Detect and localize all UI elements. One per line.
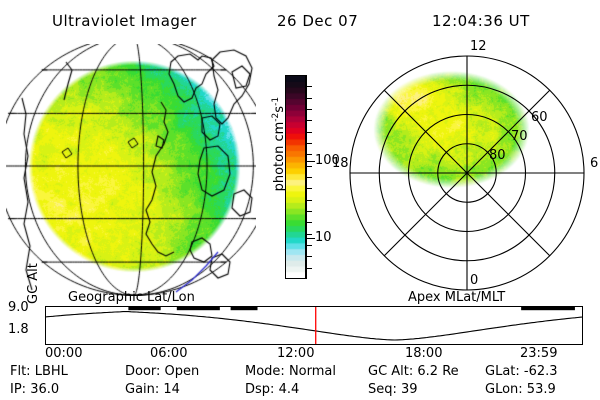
instrument-title: Ultraviolet Imager — [52, 12, 197, 30]
polar-mlt-label-0: 0 — [470, 274, 478, 287]
status-key: GC Alt: — [368, 364, 417, 379]
polar-mlt-label-18: 18 — [332, 157, 349, 170]
orbit-x-tick-1: 06:00 — [150, 346, 187, 361]
orbit-altitude-trace — [45, 306, 583, 345]
status-value: 39 — [401, 382, 418, 397]
colorbar-tick-label-10: 10 — [315, 231, 332, 244]
colorbar-minor-tick — [306, 234, 312, 235]
status-key: Dsp: — [245, 382, 279, 397]
status-value: 36.0 — [30, 382, 59, 397]
orbit-data-segment — [177, 307, 220, 310]
orbit-y-tick-low: 1.8 — [8, 322, 29, 337]
orbit-x-tick-0: 00:00 — [45, 346, 82, 361]
colorbar-minor-tick — [306, 143, 312, 144]
status-value: 6.2 Re — [417, 364, 458, 379]
colorbar-group: photon cm-2s-1 10010 — [258, 44, 342, 296]
colorbar-title-exp1: -2 — [271, 113, 281, 122]
polar-grid-overlay — [340, 40, 596, 296]
orbit-x-tick-2: 12:00 — [277, 346, 314, 361]
orbit-data-segment — [231, 307, 258, 310]
orbit-altitude-curve — [45, 312, 583, 341]
colorbar-minor-tick — [306, 166, 312, 167]
status-value: 53.9 — [527, 382, 556, 397]
colorbar-minor-tick — [306, 109, 312, 110]
status-value: -62.3 — [524, 364, 558, 379]
polar-mlat-label-80: 80 — [489, 149, 506, 162]
colorbar-minor-tick — [306, 200, 312, 201]
orbit-data-segment — [521, 307, 575, 310]
polar-spoke-diag — [467, 173, 550, 256]
colorbar-minor-tick — [306, 211, 312, 212]
polar-mlt-label-6: 6 — [590, 157, 598, 170]
colorbar-minor-tick — [306, 86, 312, 87]
status-key: Seq: — [368, 382, 401, 397]
status-key: Flt: — [10, 364, 35, 379]
geographic-aurora-image[interactable] — [6, 44, 256, 296]
status-bar: Flt: LBHLDoor: OpenMode: NormalGC Alt: 6… — [0, 362, 600, 400]
polar-spoke-diag — [384, 173, 467, 256]
colorbar-minor-tick — [306, 245, 312, 246]
status-flt: Flt: LBHL — [10, 364, 68, 379]
status-door: Door: Open — [125, 364, 199, 379]
colorbar-axis-title: photon cm-2s-1 — [271, 59, 287, 229]
colorbar-minor-tick — [306, 177, 312, 178]
colorbar-title-mid: s — [272, 106, 287, 113]
orbit-y-axis-label: GC Alt — [26, 263, 41, 304]
observation-date: 26 Dec 07 — [277, 12, 358, 30]
orbit-x-tick-4: 23:59 — [520, 346, 557, 361]
colorbar-minor-tick — [306, 98, 312, 99]
colorbar-title-main: photon cm — [272, 122, 287, 192]
colorbar-title-exp2: -1 — [271, 97, 281, 106]
status-glat: GLat: -62.3 — [485, 364, 558, 379]
colorbar-minor-tick — [306, 268, 312, 269]
polar-panel-caption: Apex MLat/MLT — [408, 290, 505, 305]
colorbar-minor-tick — [306, 154, 312, 155]
status-value: 4.4 — [279, 382, 300, 397]
colorbar-minor-tick — [306, 132, 312, 133]
status-gain: Gain: 14 — [125, 382, 180, 397]
status-seq: Seq: 39 — [368, 382, 418, 397]
colorbar-minor-tick — [306, 120, 312, 121]
polar-mlat-label-60: 60 — [531, 111, 548, 124]
colorbar-major-tick — [306, 238, 315, 239]
status-key: Mode: — [245, 364, 289, 379]
orbit-x-tick-3: 18:00 — [405, 346, 442, 361]
status-key: GLon: — [485, 382, 527, 397]
status-gcalt: GC Alt: 6.2 Re — [368, 364, 459, 379]
observation-time: 12:04:36 UT — [432, 12, 530, 30]
status-key: GLat: — [485, 364, 524, 379]
colorbar-minor-tick — [306, 256, 312, 257]
status-dsp: Dsp: 4.4 — [245, 382, 299, 397]
polar-spoke-diag — [384, 90, 467, 173]
header-bar: Ultraviolet Imager 26 Dec 07 12:04:36 UT — [0, 6, 600, 32]
status-mode: Mode: Normal — [245, 364, 336, 379]
geographic-panel-caption: Geographic Lat/Lon — [68, 290, 195, 305]
polar-mlat-label-70: 70 — [511, 130, 528, 143]
status-key: Door: — [125, 364, 165, 379]
polar-mlt-label-12: 12 — [470, 40, 487, 53]
orbit-y-tick-high: 9.0 — [8, 300, 29, 315]
status-value: Open — [165, 364, 200, 379]
colorbar-minor-tick — [306, 222, 312, 223]
status-value: 14 — [163, 382, 180, 397]
colorbar-major-tick — [306, 161, 315, 162]
status-value: LBHL — [35, 364, 68, 379]
status-glon: GLon: 53.9 — [485, 382, 556, 397]
polar-mlat-mlt-panel[interactable]: 121860607080 — [340, 40, 596, 296]
status-ip: IP: 36.0 — [10, 382, 59, 397]
orbit-altitude-strip[interactable]: GC Alt 9.0 1.8 Geographic Lat/Lon Apex M… — [0, 292, 600, 358]
orbit-data-segment — [128, 307, 160, 310]
geographic-image-panel[interactable] — [6, 44, 256, 296]
status-key: IP: — [10, 382, 30, 397]
polar-spoke-diag — [467, 90, 550, 173]
colorbar-gradient — [286, 76, 305, 278]
status-key: Gain: — [125, 382, 163, 397]
status-value: Normal — [289, 364, 336, 379]
colorbar-minor-tick — [306, 188, 312, 189]
